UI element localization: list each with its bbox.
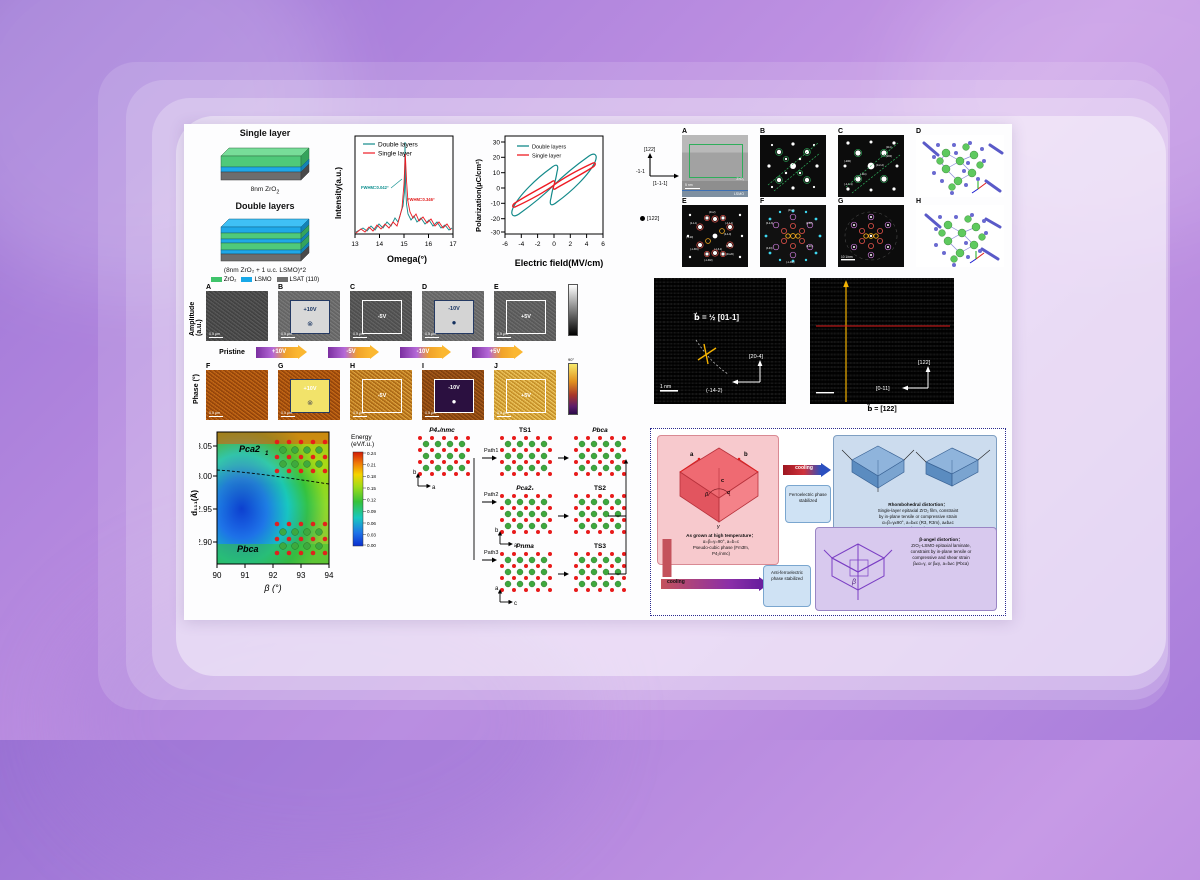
pfm-voltage-J: +5V <box>507 393 545 399</box>
box-rhombo-title: Rhombohedral distortion： <box>888 502 947 507</box>
pfm-scalebar-A: 0.5 μm <box>209 332 220 336</box>
zone-axis-dot-label: [122] <box>640 216 659 222</box>
pfm-arrow-1: +10V <box>256 347 316 358</box>
pfm-scalebar-I: 0.5 μm <box>425 411 436 415</box>
pfm-voltage-G: +10V <box>291 386 329 392</box>
svg-text:[122]: [122] <box>644 147 656 153</box>
pfm-mark-G: ⊗ <box>307 399 313 407</box>
svg-text:c: c <box>721 478 724 484</box>
pfm-voltage-B: +10V <box>291 307 329 313</box>
svg-text:(111): (111) <box>886 145 892 149</box>
schematic-box-beta-angle: β β-angel distortion： ZrO₂-LSMO epitaxia… <box>815 527 997 611</box>
box-beta-line4: compressive and shear strain <box>912 555 969 560</box>
diffraction-scalebar-A: 5 nm <box>685 183 693 187</box>
pfm-panel-C-id: C <box>350 284 412 291</box>
pfm-voltage-D: -10V <box>435 306 473 312</box>
svg-text:3.05: 3.05 <box>199 442 213 451</box>
paths-label-pbca: Pbca <box>592 427 608 434</box>
xrd-rocking-curve-chart: Intensity(a.u.) Double layers Single lay… <box>334 132 466 280</box>
svg-text:(2-4-0): (2-4-0) <box>724 233 731 236</box>
legend-item-zro2: ZrO₂ <box>211 277 237 283</box>
svg-text:14: 14 <box>376 241 384 248</box>
phase-colorbar-unit: (eV/f.u.) <box>351 441 393 448</box>
pfm-arrow-4: +5V <box>472 347 532 358</box>
pfm-panel-J-id: J <box>494 363 556 370</box>
svg-text:[1-1-1]: [1-1-1] <box>653 181 668 187</box>
pfm-panel-I: I -10V ● 0.5 μm <box>422 363 484 420</box>
double-layer-caption: (8nm ZrO₂ + 1 u.c. LSMO)*2 <box>190 267 340 274</box>
box-beta-title: β-angel distortion： <box>919 537 962 542</box>
pfm-panel-G-id: G <box>278 363 340 370</box>
paths-label-path2: Path2 <box>484 492 498 498</box>
box-rhombo-line2: Single-layer epitaxial ZrO₂ film, constr… <box>878 508 959 513</box>
diffraction-panel-D: D <box>916 128 1004 202</box>
pfm-scalebar-C: 0.5 μm <box>353 332 364 336</box>
paths-label-pca21: Pca2₁ <box>516 485 533 492</box>
hrtem-scalebar-left: 1 nm <box>660 384 671 390</box>
svg-text:(44-2): (44-2) <box>788 209 795 212</box>
box-fe-text: Ferroelectric phase stabilized <box>786 486 830 507</box>
pfm-scalebar-B: 0.5 μm <box>281 332 292 336</box>
svg-text:(0-2-2): (0-2-2) <box>876 163 884 167</box>
rhombohedral-cells <box>834 438 998 492</box>
cooling-label-right: cooling <box>785 463 823 473</box>
diffraction-panel-H: H <box>916 198 1004 272</box>
diffraction-panel-A-id: A <box>682 128 748 135</box>
legend-item-lsmo: LSMO <box>241 277 271 283</box>
svg-text:(4-30): (4-30) <box>806 222 813 225</box>
svg-text:-10: -10 <box>491 201 501 208</box>
box-beta-line2: ZrO₂-LSMO epitaxial laminate, <box>911 543 971 548</box>
svg-text:(-1-20): (-1-20) <box>686 236 693 239</box>
pfm-panel-J: J +5V 0.5 μm <box>494 363 556 420</box>
diffraction-panel-F: F <box>760 198 826 272</box>
diffraction-panel-E: E <box>682 198 748 272</box>
box-beta-line3: constraint by in-plane tensile or <box>911 549 972 554</box>
svg-text:(0-2-0): (0-2-0) <box>726 245 733 248</box>
diffraction-panel-D-id: D <box>916 128 1004 135</box>
stack-legend: ZrO₂ LSMO LSAT (110) <box>190 277 340 283</box>
svg-text:94: 94 <box>325 571 334 580</box>
paths-label-path1: Path1 <box>484 448 498 454</box>
pfm-scalebar-D: 0.5 μm <box>425 332 436 336</box>
svg-text:3.00: 3.00 <box>199 472 213 481</box>
diffraction-indexed-C: (111)(200) (0-2-2)(-111) (-1-1-1)(-200) <box>838 135 904 197</box>
svg-text:0: 0 <box>552 241 556 248</box>
single-layer-title: Single layer <box>190 128 340 138</box>
box-grown-line2: α=β=γ=90°, a=b=c <box>703 539 739 544</box>
pfm-scalebar-E: 0.5 μm <box>497 332 508 336</box>
pfm-scalebar-J: 0.5 μm <box>497 411 508 415</box>
diffraction-panel-C: C <box>838 128 904 202</box>
hrtem-left: b⃗ = ½ [01-1] [20-4] (-14-2) 1 nm <box>654 278 786 413</box>
diffraction-fft-B <box>760 135 826 197</box>
box-grown-line4: P4₂/nmc) <box>712 551 730 556</box>
energy-phase-diagram: d₁₁₁(Å) <box>190 428 410 614</box>
pfm-scalebar-G: 0.5 μm <box>281 411 292 415</box>
pfm-arrow-3: -10V <box>400 347 460 358</box>
pfm-phase-axis-label: Phase (°) <box>193 374 200 404</box>
svg-text:(-4-1-1): (-4-1-1) <box>725 222 733 225</box>
pfm-arrow-2: -5V <box>328 347 388 358</box>
pfm-panel-F-id: F <box>206 363 268 370</box>
diffraction-panel-H-id: H <box>916 198 1004 205</box>
hrtem-burgers-vector: b⃗ = ½ [01-1] <box>693 312 739 322</box>
hrtem-panel-group: b⃗ = ½ [01-1] [20-4] (-14-2) 1 nm <box>654 278 1004 426</box>
svg-text:(-1-302): (-1-302) <box>704 259 713 262</box>
svg-text:2.95: 2.95 <box>199 505 213 514</box>
phase-plot-area: Pca2 1 Pbca <box>199 428 349 594</box>
double-layer-cube <box>213 215 317 265</box>
pfm-panel-D: D -10V ● 0.5 μm <box>422 284 484 341</box>
svg-text:-6: -6 <box>502 241 508 248</box>
pfm-panel-E-id: E <box>494 284 556 291</box>
hrtem-caption: b⃗ = [122] <box>810 405 954 413</box>
xrd-annotation-single: FWHM=0.346° <box>407 197 435 202</box>
svg-text:(2-20): (2-20) <box>806 245 813 248</box>
pfm-scalebar-H: 0.5 μm <box>353 411 364 415</box>
pseudo-cubic-cell: a b c β α γ <box>658 438 780 530</box>
phase-x-axis-label: β (°) <box>263 583 281 593</box>
svg-text:b: b <box>413 470 417 476</box>
pfm-panel-D-id: D <box>422 284 484 291</box>
zone-axis-indicator-top: [122] -1-1 [1-1-1] <box>636 142 684 188</box>
svg-text:0.24: 0.24 <box>367 451 376 456</box>
paths-label-pnma: Pnma <box>516 543 534 550</box>
diffraction-pattern-F: (44-2)(0-2-3) (4-30)(2-20) (4-04)(-1-402… <box>760 205 826 267</box>
svg-text:c: c <box>514 601 517 607</box>
diffraction-substrate-label: LSMO <box>734 192 744 196</box>
pfm-panel-group: Amplitude (a.u.) A 0.5 μm B +10V ⊗ 0.5 μ… <box>190 284 630 424</box>
pfm-panel-A: A 0.5 μm <box>206 284 268 341</box>
svg-text:2: 2 <box>568 241 572 248</box>
diffraction-panel-B-id: B <box>760 128 826 135</box>
xrd-x-axis-label: Omega(°) <box>348 254 466 264</box>
svg-text:0.00: 0.00 <box>367 543 376 548</box>
phase-region-pbca: Pbca <box>237 544 259 554</box>
pfm-scalebar-F: 0.5 μm <box>209 411 220 415</box>
svg-text:a: a <box>495 586 499 592</box>
box-afe-text: Anti-ferroelectric phase stabilized <box>764 566 810 585</box>
double-layer-title: Double layers <box>190 201 340 211</box>
pfm-voltage-C: -5V <box>363 314 401 320</box>
svg-text:0.12: 0.12 <box>367 497 376 502</box>
hrtem-direction-3: [122] <box>918 360 931 366</box>
single-layer-caption: 8nm ZrO2 <box>190 186 340 195</box>
schematic-box-ferroelectric: Ferroelectric phase stabilized <box>785 485 831 523</box>
svg-text:b: b <box>744 452 748 458</box>
hrtem-direction-2: (-14-2) <box>706 388 723 394</box>
svg-text:-4: -4 <box>518 241 524 248</box>
svg-text:92: 92 <box>269 571 278 580</box>
pfm-panel-C: C -5V 0.5 μm <box>350 284 412 341</box>
diffraction-panel-B: B <box>760 128 826 202</box>
phase-colorbar-title: Energy <box>351 434 393 441</box>
pfm-mark-I: ● <box>452 397 457 406</box>
xrd-legend-double: Double layers <box>378 142 418 149</box>
svg-text:0.15: 0.15 <box>367 486 376 491</box>
phase-colorbar: Energy (eV/f.u.) 0.24 0.21 0.18 0.15 0.1… <box>351 428 393 594</box>
svg-text:(44-20): (44-20) <box>726 253 734 256</box>
pfm-phase-colorbar: 90° <box>568 363 578 415</box>
pfm-voltage-E: +5V <box>507 314 545 320</box>
svg-text:-2: -2 <box>535 241 541 248</box>
pe-legend-double: Double layers <box>532 145 566 151</box>
svg-text:(200): (200) <box>886 154 892 158</box>
diffraction-pattern-E: (44-2)(2-1-1) (-4-1-1)(2-4-0) (-1-20)(0-… <box>682 205 748 267</box>
hrtem-right: [122] [0-11] b⃗ = [122] <box>810 278 954 413</box>
molecular-model-H <box>916 205 1004 267</box>
box-beta-line5: β≠α=γ, or β≠γ, a=b≠c (Pbca) <box>913 561 969 566</box>
svg-text:16: 16 <box>425 241 433 248</box>
svg-text:91: 91 <box>241 571 250 580</box>
svg-text:β: β <box>851 579 856 586</box>
pe-x-axis-label: Electric field(MV/cm) <box>494 258 624 268</box>
box-grown-title: As grown at high temperature： <box>686 533 756 538</box>
paths-label-ts2: TS2 <box>594 485 606 492</box>
reaction-pathway-diagram: P4₂/nmc Path1 TS1 Pbca ba Path2 Pca2₁ TS… <box>412 424 632 616</box>
pe-hysteresis-chart: Polarization(μC/cm²) Double layers Singl… <box>474 132 624 280</box>
svg-text:(4-04): (4-04) <box>766 247 773 250</box>
diffraction-panel-E-id: E <box>682 198 748 205</box>
svg-text:4: 4 <box>585 241 589 248</box>
diffraction-panel-group: [122] -1-1 [1-1-1] [122] A ZrO₂ LSMO 5 n… <box>636 128 1008 276</box>
svg-text:0: 0 <box>496 185 500 192</box>
svg-text:30: 30 <box>493 139 501 146</box>
svg-text:93: 93 <box>297 571 306 580</box>
schematic-box-rhombohedral: Rhombohedral distortion： Single-layer ep… <box>833 435 997 539</box>
pe-legend-single: Single layer <box>532 154 561 160</box>
xrd-legend-single: Single layer <box>378 151 413 158</box>
svg-text:17: 17 <box>449 241 457 248</box>
svg-text:0.09: 0.09 <box>367 509 376 514</box>
diffraction-film-label: ZrO₂ <box>736 177 744 181</box>
svg-text:(-1-3-1): (-1-3-1) <box>714 248 722 251</box>
pfm-panel-E: E +5V 0.5 μm <box>494 284 556 341</box>
svg-text:6: 6 <box>601 241 605 248</box>
schematic-dashed-border: a b c β α γ As grown at high temperature… <box>650 428 1006 616</box>
svg-text:-20: -20 <box>491 216 501 223</box>
paths-label-path3: Path3 <box>484 550 498 556</box>
single-layer-cube <box>213 142 317 184</box>
diffraction-panel-F-id: F <box>760 198 826 205</box>
pfm-panel-B: B +10V ⊗ 0.5 μm <box>278 284 340 341</box>
pfm-amplitude-colorbar <box>568 284 578 336</box>
box-rhombo-line4: α=β=γ≠90°, a=b≠c (R3, R3m), a≠b≠c <box>882 520 954 525</box>
pfm-phase-cb-max: 90° <box>568 357 574 362</box>
svg-text:(-1-1-1): (-1-1-1) <box>844 182 853 186</box>
svg-text:(-1-402): (-1-402) <box>786 261 795 264</box>
phase-transition-schematic: a b c β α γ As grown at high temperature… <box>650 428 1006 616</box>
svg-text:90: 90 <box>213 571 222 580</box>
xrd-annotation-double: FWHM=0.042° <box>361 185 389 190</box>
box-rhombo-line3: by in-plane tensile or compressive strai… <box>879 514 957 519</box>
box-grown-line3: Pseudo-cubic phase (Fm3̄m, <box>693 545 749 550</box>
svg-text:(-111): (-111) <box>860 172 867 176</box>
svg-text:a: a <box>690 452 694 458</box>
svg-text:(-1-301): (-1-301) <box>690 248 699 251</box>
cooling-arrow-down: cooling <box>661 577 769 591</box>
pfm-panel-A-id: A <box>206 284 268 291</box>
pfm-voltage-I: -10V <box>435 385 473 391</box>
svg-text:2.90: 2.90 <box>199 538 213 547</box>
xrd-plot-area: Double layers Single layer FWHM=0.042° F… <box>343 132 457 254</box>
figure-canvas: Single layer 8nm ZrO2 Double layers <box>184 124 1012 620</box>
xrd-y-axis-label: Intensity(a.u.) <box>334 167 343 219</box>
paths-label-ts3: TS3 <box>594 543 606 550</box>
pfm-voltage-sequence: Pristine +10V -5V -10V +5V <box>208 344 630 360</box>
pfm-mark-B: ⊗ <box>307 320 313 328</box>
diffraction-panel-A: A ZrO₂ LSMO 5 nm <box>682 128 748 202</box>
svg-text:-30: -30 <box>491 229 501 236</box>
diffraction-panel-G: G <box>838 198 904 272</box>
pfm-pristine-label: Pristine <box>208 349 256 356</box>
schematic-box-antiferroelectric: Anti-ferroelectric phase stabilized <box>763 565 811 607</box>
svg-text:0.21: 0.21 <box>367 462 376 467</box>
svg-text:15: 15 <box>400 241 408 248</box>
pfm-voltage-H: -5V <box>363 393 401 399</box>
pfm-mark-D: ● <box>452 318 457 327</box>
cooling-label-down: cooling <box>663 577 765 587</box>
svg-text:(44-2): (44-2) <box>709 211 716 214</box>
svg-text:0.06: 0.06 <box>367 521 376 526</box>
diffraction-pattern-G: 10 1/nm <box>838 205 904 267</box>
pfm-panel-G: G +10V ⊗ 0.5 μm <box>278 363 340 420</box>
hrtem-direction-1: [20-4] <box>749 354 764 360</box>
paths-label-ts1: TS1 <box>519 427 531 434</box>
pfm-panel-F: F 0.5 μm <box>206 363 268 420</box>
pfm-amplitude-axis-label: Amplitude (a.u.) <box>189 284 203 336</box>
paths-label-p42nmc: P4₂/nmc <box>429 427 455 434</box>
legend-item-lsat: LSAT (110) <box>277 277 320 283</box>
pfm-panel-H: H -5V 0.5 μm <box>350 363 412 420</box>
svg-text:10: 10 <box>493 170 501 177</box>
svg-text:13: 13 <box>351 241 359 248</box>
svg-text:a: a <box>432 485 436 491</box>
phase-region-pca21: Pca2 <box>239 444 260 454</box>
molecular-model-D <box>916 135 1004 197</box>
phase-y-axis-label: d₁₁₁(Å) <box>190 490 199 516</box>
pfm-panel-B-id: B <box>278 284 340 291</box>
hrtem-direction-4: [0-11] <box>876 386 890 392</box>
svg-text:0.18: 0.18 <box>367 474 376 479</box>
cooling-arrow-right: cooling <box>783 463 831 477</box>
svg-text:-1-1: -1-1 <box>636 169 645 175</box>
layer-stack-schematic: Single layer 8nm ZrO2 Double layers <box>190 128 340 276</box>
pe-y-axis-label: Polarization(μC/cm²) <box>474 159 483 232</box>
pe-plot-area: Double layers Single layer 30 20 10 0 -1… <box>483 132 609 258</box>
cooling-elbow <box>657 539 677 585</box>
diffraction-scalebar-G: 10 1/nm <box>841 255 853 259</box>
pfm-panel-H-id: H <box>350 363 412 370</box>
pfm-panel-I-id: I <box>422 363 484 370</box>
svg-text:(0-2-3): (0-2-3) <box>766 222 773 225</box>
svg-text:(2-1-1): (2-1-1) <box>690 222 697 225</box>
diffraction-panel-C-id: C <box>838 128 904 135</box>
svg-text:0.03: 0.03 <box>367 532 376 537</box>
svg-text:20: 20 <box>493 155 501 162</box>
diffraction-panel-G-id: G <box>838 198 904 205</box>
svg-text:(-200): (-200) <box>844 159 851 163</box>
svg-text:b: b <box>495 528 499 534</box>
